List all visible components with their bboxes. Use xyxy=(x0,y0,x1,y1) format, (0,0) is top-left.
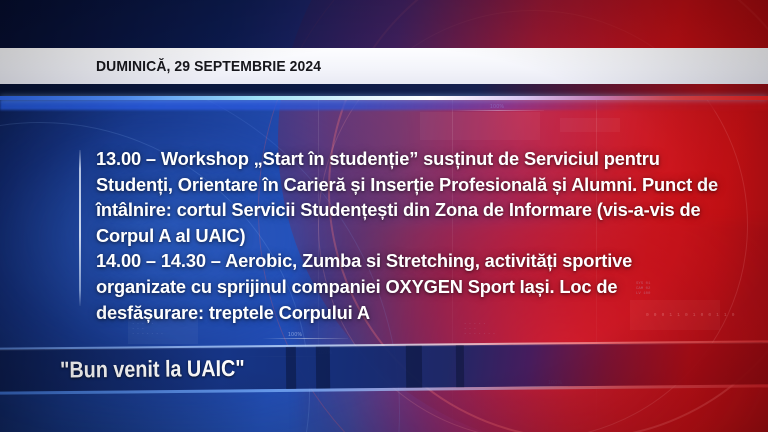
date-bar: DUMINICĂ, 29 SEPTEMBRIE 2024 xyxy=(0,48,768,84)
broadcast-graphic: 100% 100% 100% 100% 0 0 0 1 1 0 1 0 0 1 … xyxy=(0,0,768,432)
blue-underglow-bar xyxy=(0,100,768,110)
schedule-entry-2: 14.00 – 14.30 – Aerobic, Zumba si Stretc… xyxy=(96,248,722,325)
lower-third-stripe xyxy=(406,346,422,388)
hud-panel xyxy=(560,118,620,132)
lower-third-stripe xyxy=(316,347,330,389)
schedule-entry-1: 13.00 – Workshop „Start în studenție” su… xyxy=(96,146,722,248)
schedule-text-block: 13.00 – Workshop „Start în studenție” su… xyxy=(96,146,722,325)
lower-third-stripe xyxy=(456,345,464,387)
lower-third-stripe xyxy=(286,347,296,389)
text-accent-line xyxy=(79,150,81,306)
hud-rule xyxy=(262,338,348,339)
lower-third-banner: "Bun venit la UAIC" xyxy=(0,342,768,392)
cyan-accent-line xyxy=(0,96,768,100)
top-dark-bar xyxy=(0,0,768,48)
date-text: DUMINICĂ, 29 SEPTEMBRIE 2024 xyxy=(96,58,321,75)
hud-panel xyxy=(420,112,540,140)
hud-rule xyxy=(452,110,544,111)
lower-third-title: "Bun venit la UAIC" xyxy=(60,355,245,384)
hud-percent-label: 100% xyxy=(288,332,302,338)
